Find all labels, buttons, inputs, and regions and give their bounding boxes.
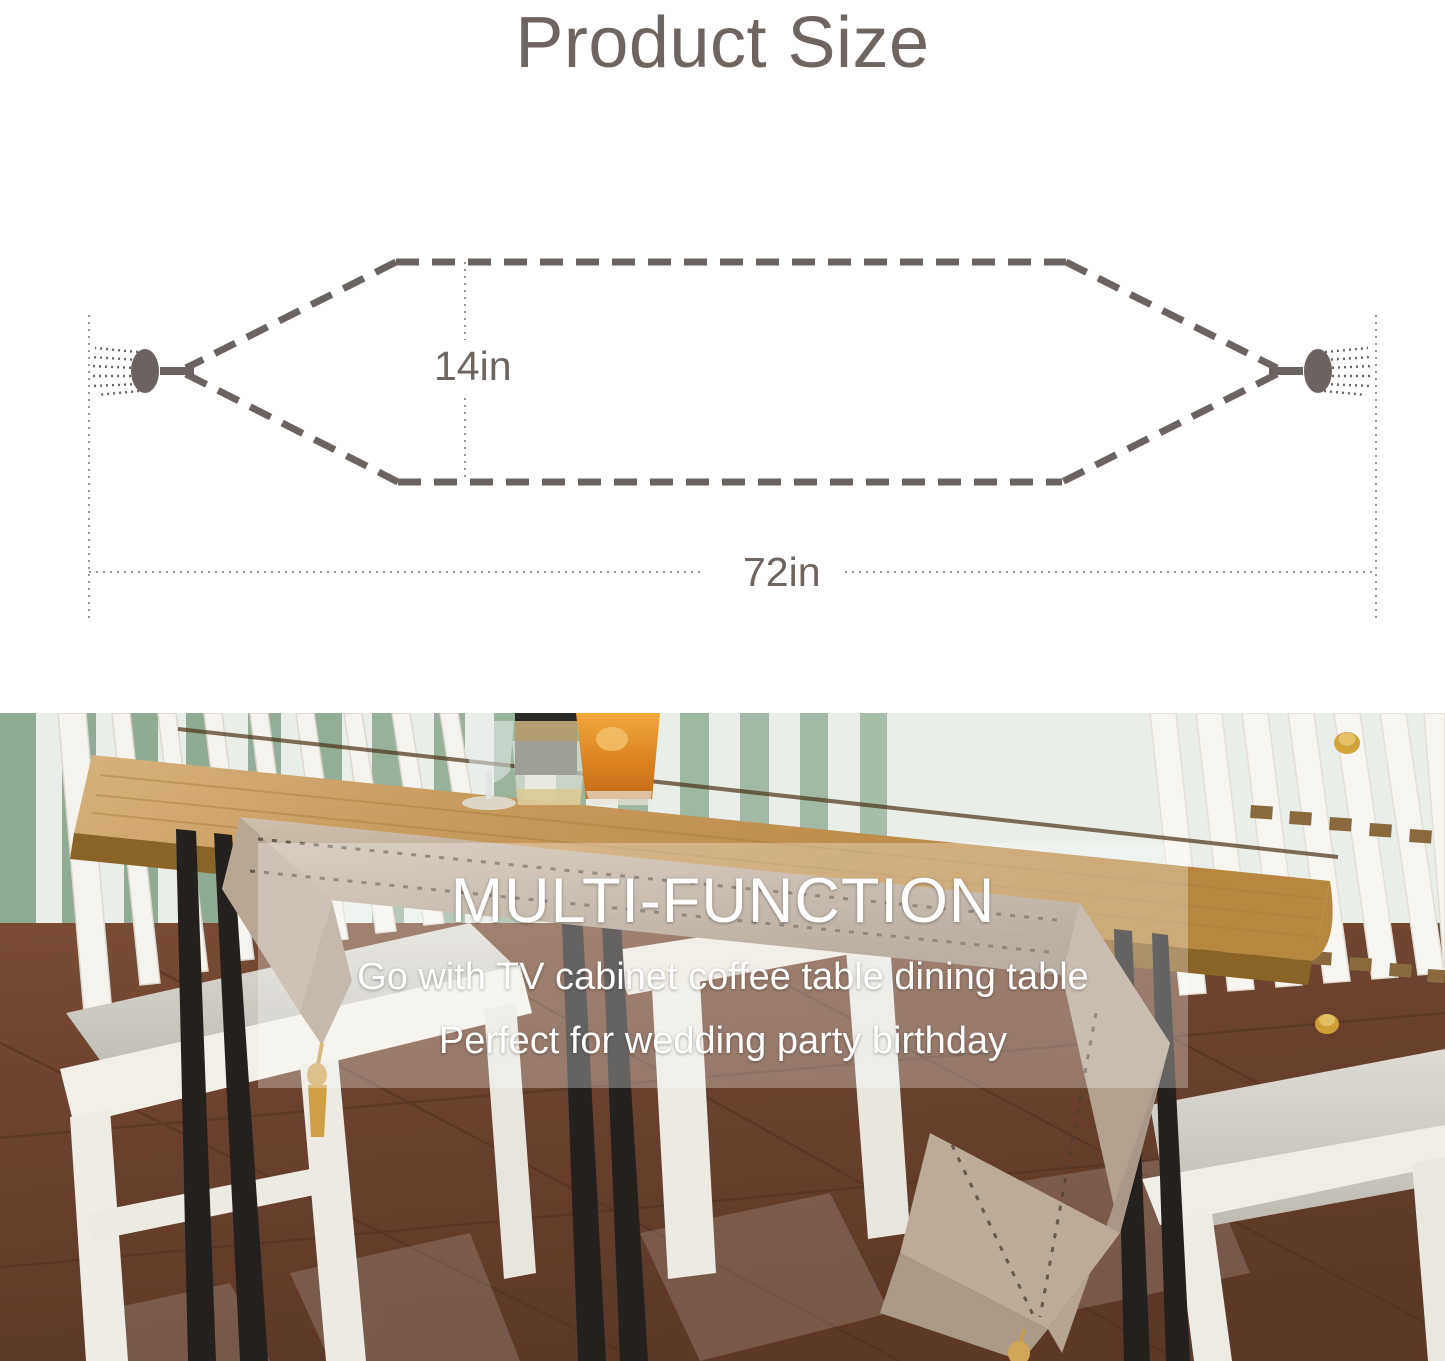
tassel-left-icon xyxy=(90,348,194,395)
lifestyle-photo: MULTI-FUNCTION Go with TV cabinet coffee… xyxy=(0,713,1445,1361)
tassel-right-icon xyxy=(1269,348,1373,395)
iced-tea-glass xyxy=(576,713,660,805)
size-diagram-svg xyxy=(0,0,1445,713)
tumbler-glass xyxy=(512,741,586,805)
overlay-text-block: MULTI-FUNCTION Go with TV cabinet coffee… xyxy=(258,843,1188,1088)
product-listing-image: Product Size xyxy=(0,0,1445,1361)
overlay-headline: MULTI-FUNCTION xyxy=(258,865,1188,937)
height-dimension-label: 14in xyxy=(424,343,522,390)
product-size-section: Product Size xyxy=(0,0,1445,713)
width-dimension-label: 72in xyxy=(733,549,831,596)
overlay-subline-2: Perfect for wedding party birthday xyxy=(258,1020,1188,1063)
overlay-subline-1: Go with TV cabinet coffee table dining t… xyxy=(258,956,1188,999)
size-diagram: 14in 72in xyxy=(0,0,1445,713)
runner-outline xyxy=(186,262,1277,482)
